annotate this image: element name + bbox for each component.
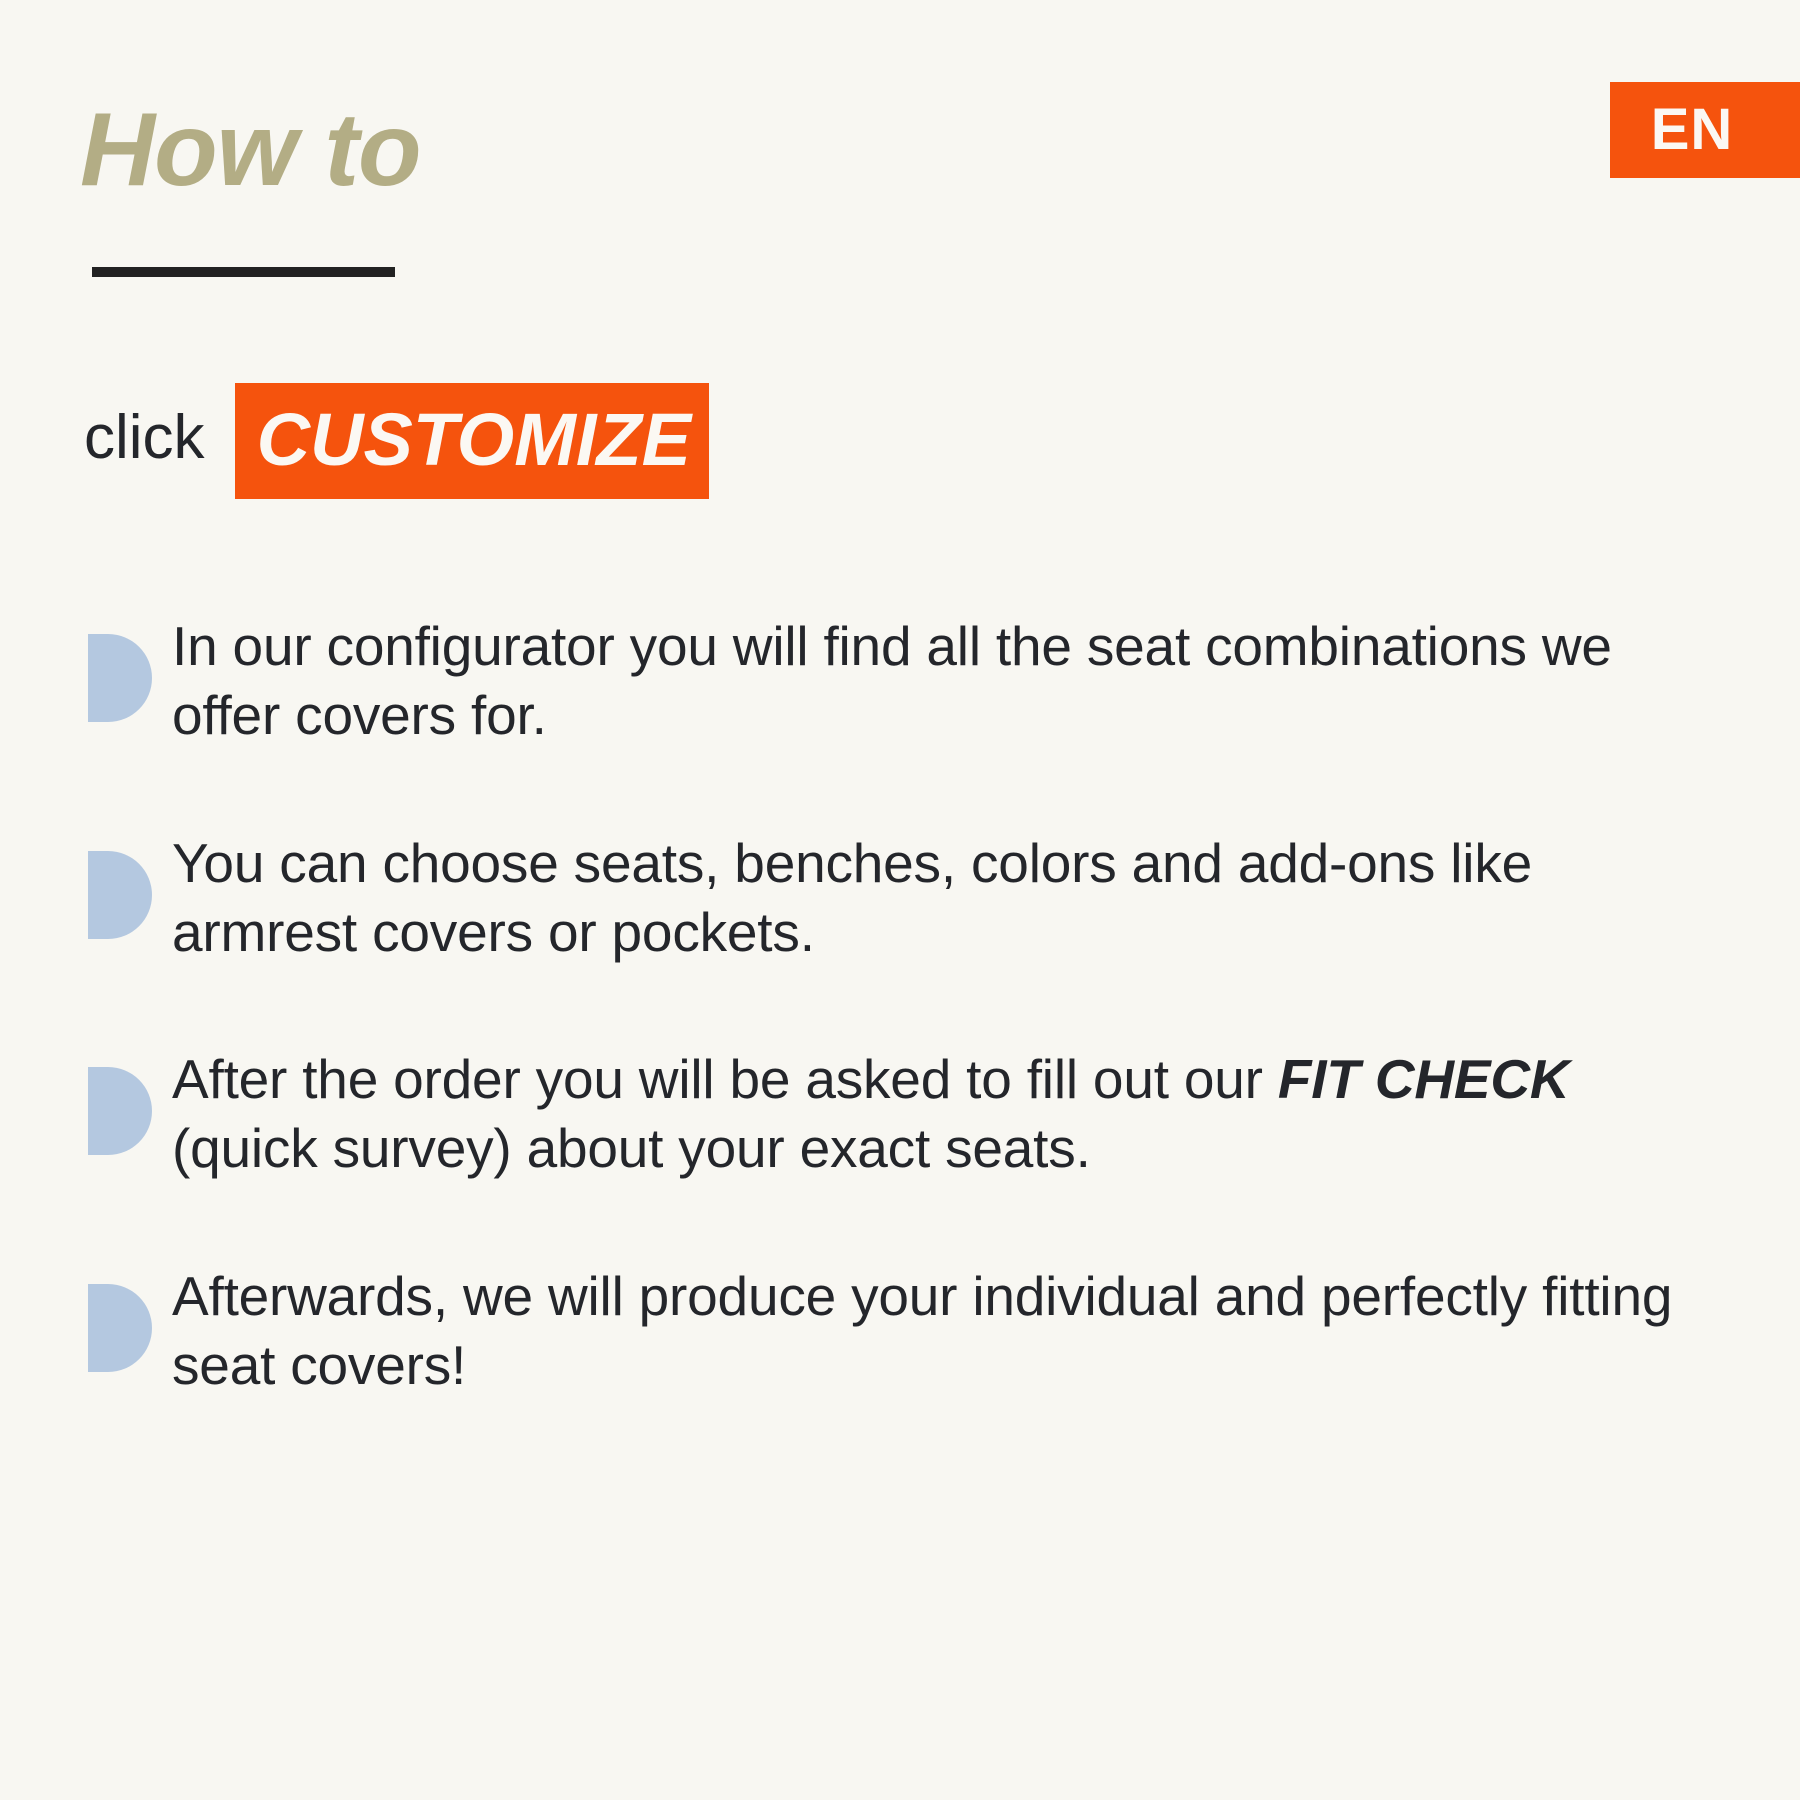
list-item: You can choose seats, benches, colors an…	[88, 829, 1728, 968]
list-item: After the order you will be asked to fil…	[88, 1045, 1728, 1184]
title-block: How to	[80, 96, 421, 205]
half-pill-bullet-icon	[88, 1067, 152, 1155]
call-to-action-line: click CUSTOMIZE	[84, 386, 709, 496]
page-title: How to	[80, 96, 421, 205]
list-item-text: In our configurator you will find all th…	[172, 612, 1728, 751]
language-badge-label: EN	[1651, 101, 1734, 159]
list-item-lead: Afterwards, we will produce your individ…	[172, 1265, 1672, 1396]
language-badge[interactable]: EN	[1610, 82, 1800, 178]
list-item-tail: (quick survey) about your exact seats.	[172, 1117, 1091, 1179]
half-pill-bullet-icon	[88, 634, 152, 722]
half-pill-bullet-icon	[88, 1284, 152, 1372]
list-item-text: After the order you will be asked to fil…	[172, 1045, 1728, 1184]
list-item-text: Afterwards, we will produce your individ…	[172, 1262, 1728, 1401]
list-item-lead: In our configurator you will find all th…	[172, 615, 1612, 746]
list-item-emphasis: FIT CHECK	[1278, 1048, 1570, 1110]
list-item-lead: You can choose seats, benches, colors an…	[172, 832, 1532, 963]
list-item-lead: After the order you will be asked to fil…	[172, 1048, 1278, 1110]
steps-list: In our configurator you will find all th…	[88, 612, 1728, 1400]
list-item: In our configurator you will find all th…	[88, 612, 1728, 751]
list-item-text: You can choose seats, benches, colors an…	[172, 829, 1728, 968]
click-label: click	[84, 407, 205, 475]
how-to-card: EN How to click CUSTOMIZE In our configu…	[0, 0, 1800, 1800]
customize-button-highlight[interactable]: CUSTOMIZE	[235, 383, 709, 499]
list-item: Afterwards, we will produce your individ…	[88, 1262, 1728, 1401]
title-underline-rule	[92, 267, 395, 277]
half-pill-bullet-icon	[88, 851, 152, 939]
